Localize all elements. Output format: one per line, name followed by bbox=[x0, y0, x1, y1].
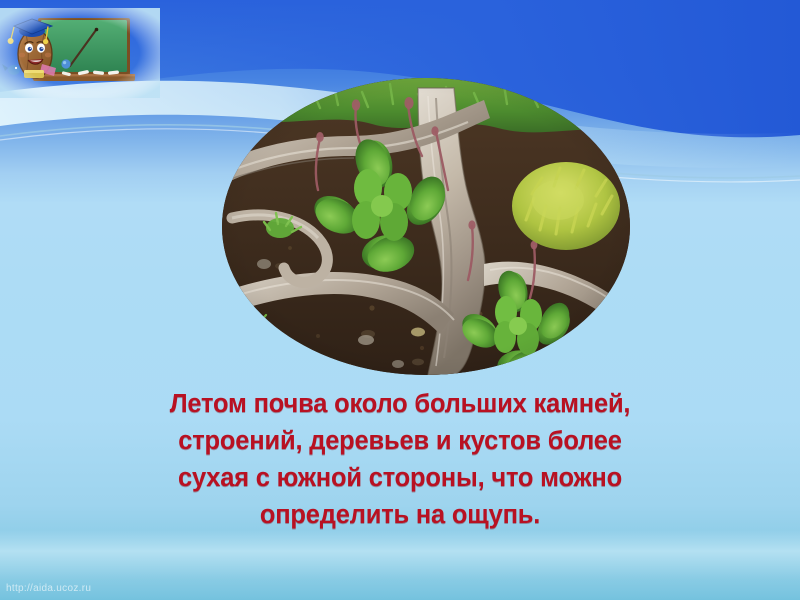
watermark-url: http://aida.ucoz.ru bbox=[6, 583, 91, 594]
slide-canvas: Летом почва около больших камней, строен… bbox=[0, 0, 800, 600]
slide-caption: Летом почва около больших камней, строен… bbox=[40, 386, 760, 534]
caption-line-3: сухая с южной стороны, что можно bbox=[40, 460, 760, 497]
photo-tree-roots-oval bbox=[222, 78, 630, 375]
clipart-nut-teacher bbox=[0, 8, 160, 98]
caption-line-2: строений, деревьев и кустов более bbox=[40, 423, 760, 460]
photo-content bbox=[222, 78, 630, 375]
background-bottom-band bbox=[0, 530, 800, 600]
caption-line-1: Летом почва около больших камней, bbox=[40, 386, 760, 423]
caption-line-4: определить на ощупь. bbox=[40, 497, 760, 534]
